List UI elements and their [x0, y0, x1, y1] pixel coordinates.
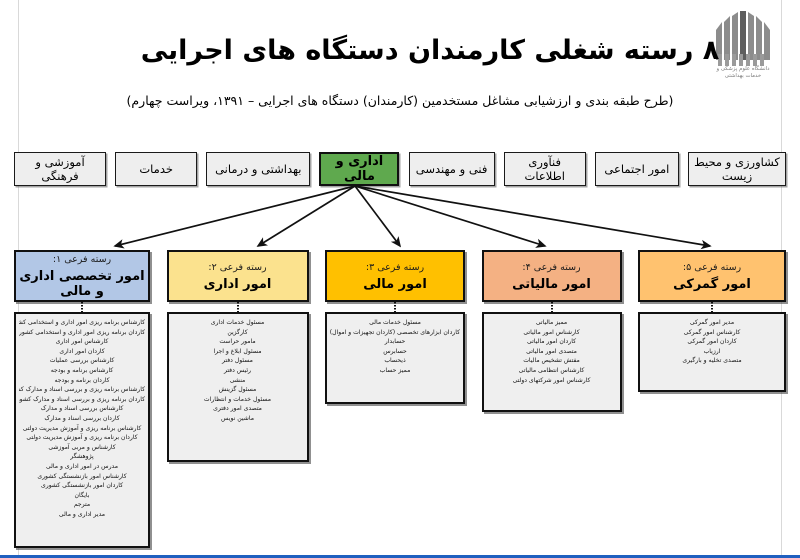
- job-list-1: کارشناس برنامه ریزی امور اداری و استخدام…: [14, 312, 150, 548]
- sub-category-column-2: رسته فرعی ۲:امور اداریمسئول خدمات اداریک…: [167, 250, 309, 550]
- job-item: کاردان امور مالیاتی: [487, 337, 617, 347]
- job-item: کاردان بررسی اسناد و مدارک: [19, 414, 145, 424]
- job-item: کارشناس انتظامی مالیاتی: [487, 366, 617, 376]
- job-item: کارشناس برنامه ریزی و آموزش مدیریت دولتی: [19, 424, 145, 434]
- category-label: آموزشی و فرهنگی: [19, 155, 101, 183]
- category-box-7[interactable]: امور اجتماعی: [595, 152, 679, 186]
- sub-category-number: رسته فرعی ۳:: [366, 262, 424, 274]
- job-item: بایگان: [19, 491, 145, 501]
- job-item: پژوهشگر: [19, 452, 145, 462]
- dotted-line: [237, 302, 239, 312]
- job-item: کارشناس امور شرکتهای دولتی: [487, 376, 617, 386]
- job-item: کارشناس بررسی عملیات: [19, 356, 145, 366]
- connector-arrows: [0, 184, 800, 256]
- category-label: اداری و مالی: [325, 154, 393, 184]
- job-item: کارشناس امور بازنشستگی کشوری: [19, 472, 145, 482]
- sub-category-header-3[interactable]: رسته فرعی ۳:امور مالی: [325, 250, 465, 302]
- job-item: کاردان برنامه ریزی و بررسی اسناد و مدارک…: [19, 395, 145, 405]
- job-list-3: مسئول خدمات مالیکاردان ابزارهای تخصصی (ک…: [325, 312, 465, 404]
- fan-logo-icon: [712, 8, 774, 60]
- category-label: بهداشتی و درمانی: [215, 162, 301, 176]
- job-item: منشی: [172, 376, 304, 386]
- job-item: کارشناس برنامه ریزی و بررسی اسناد و مدار…: [19, 385, 145, 395]
- job-item: ماشین نویس: [172, 414, 304, 424]
- page-subtitle: (طرح طبقه بندی و ارزشیابی مشاغل مستخدمین…: [120, 92, 680, 110]
- job-list-5: مدیر امور گمرکیکارشناس امور گمرکیکاردان …: [638, 312, 786, 392]
- job-item: کاردان برنامه و بودجه: [19, 376, 145, 386]
- job-item: مدیر امور گمرکی: [643, 318, 781, 328]
- dotted-line: [711, 302, 713, 312]
- sub-category-number: رسته فرعی ۲:: [208, 262, 266, 274]
- job-item: مسئول خدمات اداری: [172, 318, 304, 328]
- category-box-2[interactable]: خدمات: [115, 152, 197, 186]
- dotted-line: [551, 302, 553, 312]
- job-item: متصدی امور مالیاتی: [487, 347, 617, 357]
- top-category-row: آموزشی و فرهنگیخدماتبهداشتی و درمانیادار…: [14, 152, 786, 186]
- sub-category-name: امور مالیاتی: [512, 277, 591, 292]
- job-item: مترجم: [19, 500, 145, 510]
- sub-category-column-1: رسته فرعی ۱:امور تخصصی اداری و مالیکارشن…: [14, 250, 150, 550]
- job-list-4: ممیز مالیاتیکارشناس امور مالیاتیکاردان ا…: [482, 312, 622, 412]
- category-label: امور اجتماعی: [604, 162, 669, 176]
- job-item: مسئول ابلاغ و اجرا: [172, 347, 304, 357]
- category-box-6[interactable]: فنآوری اطلاعات: [504, 152, 586, 186]
- sub-category-number: رسته فرعی ۵:: [683, 262, 741, 274]
- sub-category-name: امور گمرکی: [673, 277, 751, 292]
- category-box-8[interactable]: کشاورزی و محیط زیست: [688, 152, 786, 186]
- job-item: کاردان ابزارهای تخصصی (کاردان تجهیزات و …: [330, 328, 460, 338]
- job-item: کاردان امور اداری: [19, 347, 145, 357]
- sub-category-columns: رسته فرعی ۱:امور تخصصی اداری و مالیکارشن…: [14, 250, 786, 550]
- category-box-5[interactable]: فنی و مهندسی: [409, 152, 495, 186]
- logo-base-icon: [718, 54, 768, 66]
- column-connector-2: [167, 302, 309, 312]
- job-item: کارشناس برنامه ریزی امور اداری و استخدام…: [19, 318, 145, 328]
- category-box-1[interactable]: آموزشی و فرهنگی: [14, 152, 106, 186]
- sub-category-header-2[interactable]: رسته فرعی ۲:امور اداری: [167, 250, 309, 302]
- sub-category-number: رسته فرعی ۴:: [522, 262, 580, 274]
- job-item: رئیس دفتر: [172, 366, 304, 376]
- sub-category-name: امور اداری: [204, 277, 272, 292]
- job-item: کارشناس برنامه و بودجه: [19, 366, 145, 376]
- job-item: کارشناس بررسی اسناد و مدارک: [19, 404, 145, 414]
- sub-category-column-4: رسته فرعی ۴:امور مالیاتیممیز مالیاتیکارش…: [482, 250, 622, 550]
- dotted-line: [394, 302, 396, 312]
- job-item: مسئول گزینش: [172, 385, 304, 395]
- job-item: مسئول خدمات مالی: [330, 318, 460, 328]
- category-label: فنی و مهندسی: [416, 162, 488, 176]
- job-item: کارشناس امور مالیاتی: [487, 328, 617, 338]
- job-item: متصدی امور دفتری: [172, 404, 304, 414]
- job-item: ارزیاب: [643, 347, 781, 357]
- sub-category-header-5[interactable]: رسته فرعی ۵:امور گمرکی: [638, 250, 786, 302]
- job-item: کاردان امور گمرکی: [643, 337, 781, 347]
- sub-category-number: رسته فرعی ۱:: [53, 254, 111, 266]
- sub-category-header-1[interactable]: رسته فرعی ۱:امور تخصصی اداری و مالی: [14, 250, 150, 302]
- category-label: کشاورزی و محیط زیست: [693, 155, 781, 183]
- sub-category-header-4[interactable]: رسته فرعی ۴:امور مالیاتی: [482, 250, 622, 302]
- job-item: حسابدار: [330, 337, 460, 347]
- category-box-3[interactable]: بهداشتی و درمانی: [206, 152, 310, 186]
- category-label: فنآوری اطلاعات: [509, 155, 581, 183]
- sub-category-column-3: رسته فرعی ۳:امور مالیمسئول خدمات مالیکار…: [325, 250, 465, 550]
- job-item: مفتش تشخیص مالیات: [487, 356, 617, 366]
- category-box-4[interactable]: اداری و مالی: [319, 152, 399, 186]
- job-item: مدرس در امور اداری و مالی: [19, 462, 145, 472]
- job-item: کارشناس امور گمرکی: [643, 328, 781, 338]
- dotted-line: [81, 302, 83, 312]
- job-item: کارشناس امور اداری: [19, 337, 145, 347]
- job-list-2: مسئول خدمات اداریکارگزینمامور حراستمسئول…: [167, 312, 309, 462]
- job-item: مامور حراست: [172, 337, 304, 347]
- sub-category-name: امور تخصصی اداری و مالی: [19, 269, 145, 299]
- job-item: کاردان امور بازنشستگی کشوری: [19, 481, 145, 491]
- column-connector-4: [482, 302, 622, 312]
- job-item: متصدی تخلیه و بارگیری: [643, 356, 781, 366]
- sub-category-column-5: رسته فرعی ۵:امور گمرکیمدیر امور گمرکیکار…: [638, 250, 786, 550]
- job-item: ممیز حساب: [330, 366, 460, 376]
- job-item: کاردان برنامه ریزی امور اداری و استخدامی…: [19, 328, 145, 338]
- job-item: کاردان برنامه ریزی و آموزش مدیریت دولتی: [19, 433, 145, 443]
- column-connector-1: [14, 302, 150, 312]
- sub-category-name: امور مالی: [363, 277, 427, 292]
- column-connector-3: [325, 302, 465, 312]
- job-item: حسابرس: [330, 347, 460, 357]
- job-item: کارشناس و مربی آموزشی: [19, 443, 145, 453]
- job-item: ذیحساب: [330, 356, 460, 366]
- job-item: ممیز مالیاتی: [487, 318, 617, 328]
- page-title: ۸ رسته شغلی کارمندان دستگاه های اجرایی: [140, 34, 720, 68]
- job-item: کارگزین: [172, 328, 304, 338]
- job-item: مسئول خدمات و انتظارات: [172, 395, 304, 405]
- column-connector-5: [638, 302, 786, 312]
- category-label: خدمات: [139, 162, 173, 176]
- job-item: مدیر اداری و مالی: [19, 510, 145, 520]
- job-item: مسئول دفتر: [172, 356, 304, 366]
